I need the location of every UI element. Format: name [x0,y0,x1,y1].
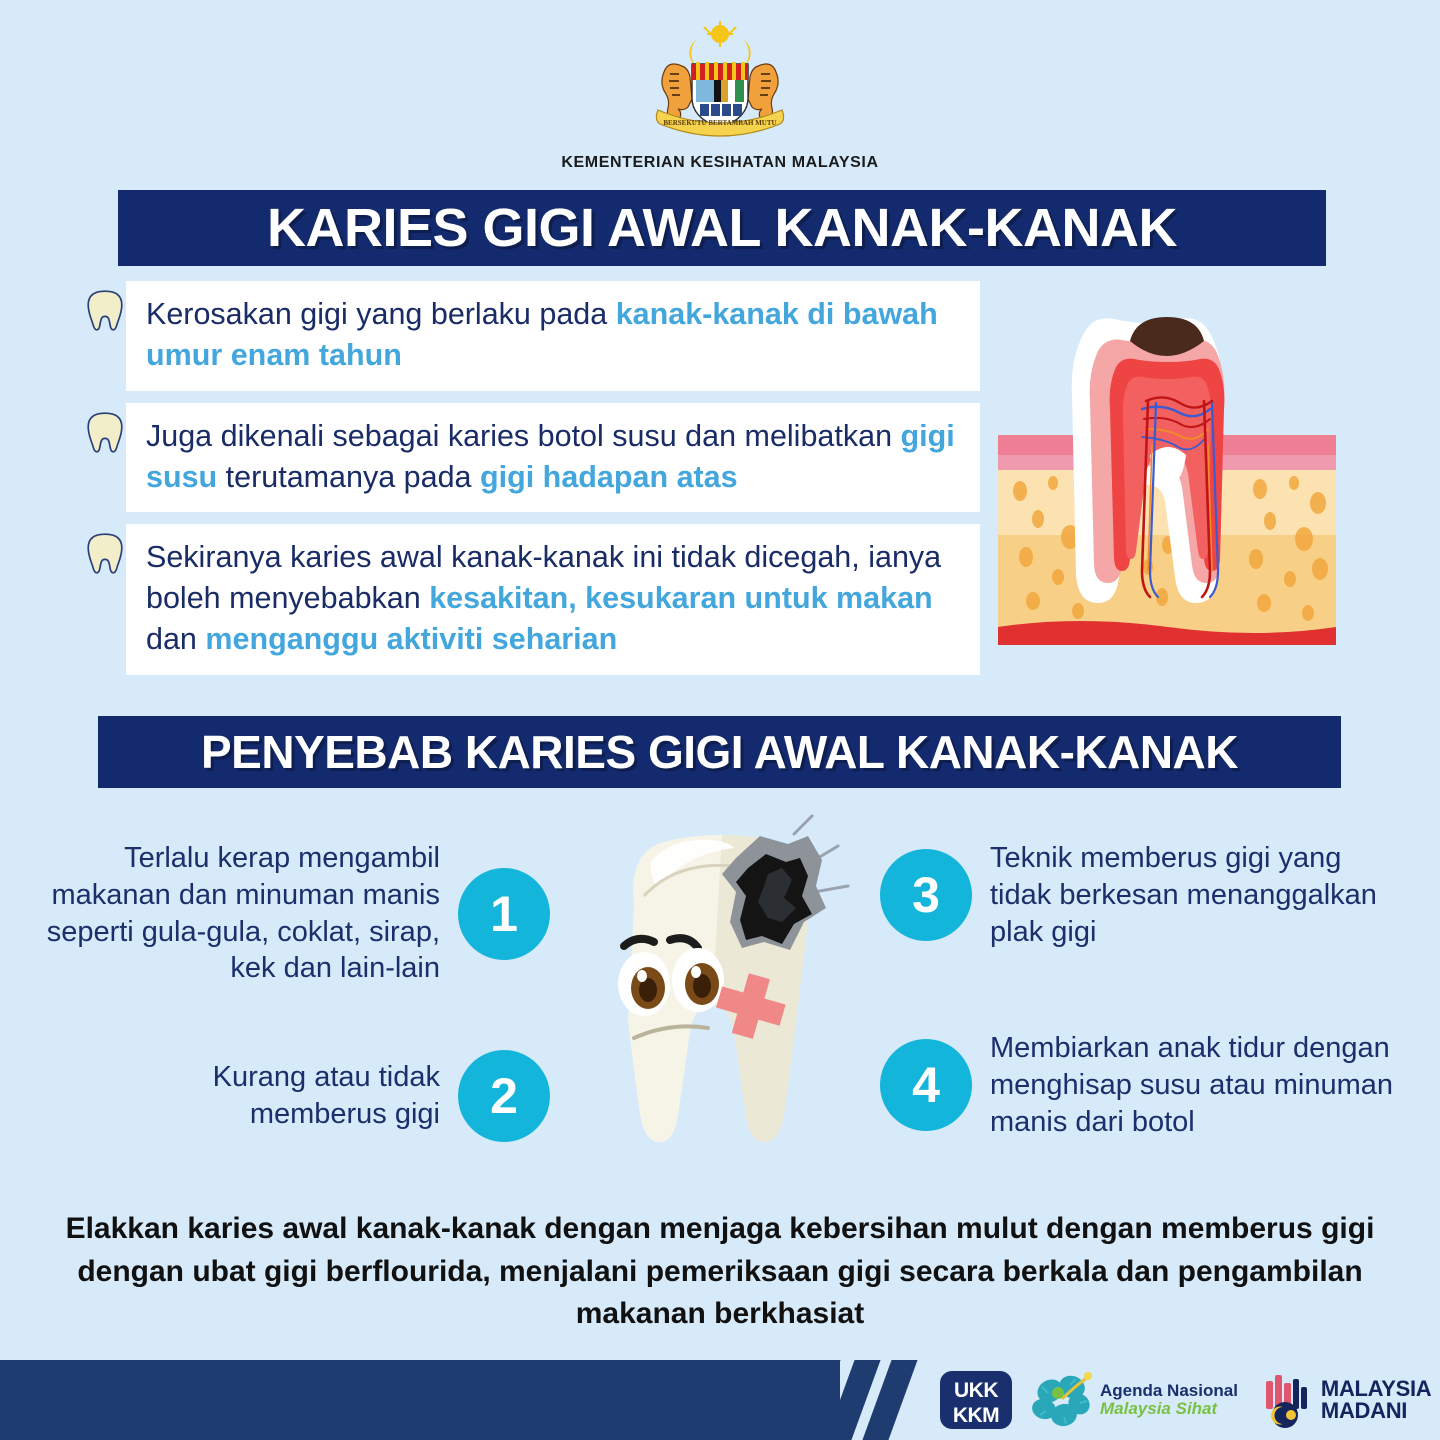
footer-message: Elakkan karies awal kanak-kanak dengan m… [60,1208,1380,1336]
cause-text: Membiarkan anak tidur dengan menghisap s… [990,1030,1400,1140]
cause-text: Terlalu kerap mengambil makanan dan minu… [44,840,440,987]
cause-number-badge: 2 [458,1050,550,1142]
bottom-bar: UKK KKM Agenda [0,1360,1440,1440]
fact-text: Kerosakan gigi yang berlaku pada kanak-k… [146,294,958,376]
agenda-nasional-logo: Agenda Nasional Malaysia Sihat [1032,1371,1238,1429]
cause-text: Teknik memberus gigi yang tidak berkesan… [990,840,1400,950]
tooth-cross-section-illustration [998,305,1336,645]
agenda-text-block: Agenda Nasional Malaysia Sihat [1100,1382,1238,1418]
sad-cartoon-tooth-with-cavity-illustration [572,812,872,1202]
fact-card: Sekiranya karies awal kanak-kanak ini ti… [126,524,980,675]
ukk-line-2: KKM [944,1403,1008,1428]
cause-number-badge: 3 [880,849,972,941]
fact-text: Juga dikenali sebagai karies botol susu … [146,416,958,498]
cause-item-1: Terlalu kerap mengambil makanan dan minu… [44,840,560,987]
cause-text: Kurang atau tidak memberus gigi [150,1059,440,1133]
fact-card: Kerosakan gigi yang berlaku pada kanak-k… [126,281,980,391]
tooth-icon [84,409,126,457]
agenda-line-1: Agenda Nasional [1100,1382,1238,1400]
malaysia-coat-of-arms-icon: BERSEKUTU BERTAMBAH MUTU [610,18,830,148]
ukk-kkm-logo: UKK KKM [940,1371,1012,1429]
bottom-bar-navy-block [0,1360,840,1440]
fact-item: Kerosakan gigi yang berlaku pada kanak-k… [100,281,980,391]
header: BERSEKUTU BERTAMBAH MUTU KEMENTERIAN KES… [0,0,1440,172]
cause-number-badge: 1 [458,868,550,960]
tooth-icon [84,530,126,578]
facts-list: Kerosakan gigi yang berlaku pada kanak-k… [100,281,980,687]
main-title-banner: KARIES GIGI AWAL KANAK-KANAK [118,190,1326,266]
fact-text: Sekiranya karies awal kanak-kanak ini ti… [146,537,958,660]
cause-item-2: Kurang atau tidak memberus gigi 2 [150,1050,560,1142]
cause-item-3: 3 Teknik memberus gigi yang tidak berkes… [880,840,1400,950]
ukk-line-1: UKK [944,1378,1008,1403]
malaysia-madani-logo: MALAYSIA MADANI [1258,1371,1431,1429]
agenda-line-2: Malaysia Sihat [1100,1400,1238,1418]
svg-text:BERSEKUTU BERTAMBAH MUTU: BERSEKUTU BERTAMBAH MUTU [663,119,776,127]
cause-item-4: 4 Membiarkan anak tidur dengan menghisap… [880,1030,1400,1140]
cause-number-badge: 4 [880,1039,972,1131]
fact-card: Juga dikenali sebagai karies botol susu … [126,403,980,513]
causes-title-banner: PENYEBAB KARIES GIGI AWAL KANAK-KANAK [98,716,1341,788]
madani-buildings-icon [1258,1371,1314,1429]
hibiscus-icon [1032,1371,1094,1429]
madani-line-2: MADANI [1321,1400,1431,1422]
madani-line-1: MALAYSIA [1321,1378,1431,1400]
tooth-icon [84,287,126,335]
fact-item: Juga dikenali sebagai karies botol susu … [100,403,980,513]
fact-item: Sekiranya karies awal kanak-kanak ini ti… [100,524,980,675]
bottom-logos: UKK KKM Agenda [940,1360,1431,1440]
madani-text-block: MALAYSIA MADANI [1321,1378,1431,1421]
ministry-name: KEMENTERIAN KESIHATAN MALAYSIA [0,154,1440,172]
